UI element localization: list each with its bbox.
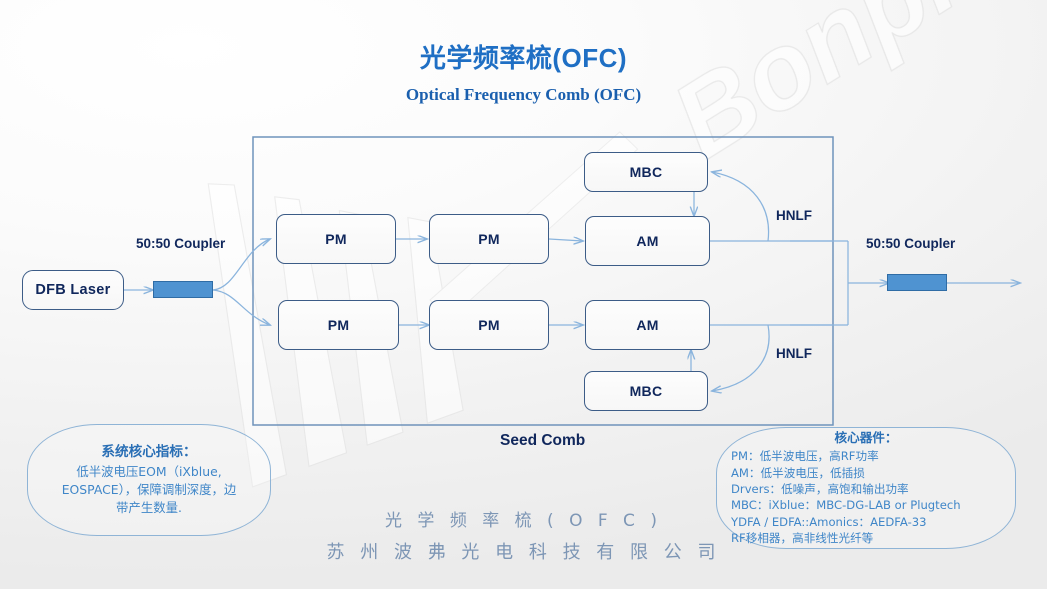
callout-right-line-3: Drvers：低噪声，高饱和输出功率 bbox=[731, 481, 1001, 497]
slide-canvas: Bonphot Bonphot 光学频率梳(OFC) Optical Frequ… bbox=[0, 0, 1047, 589]
upper-hnlf-label: HNLF bbox=[776, 208, 812, 223]
node-label: AM bbox=[636, 317, 658, 333]
seed-comb-label: Seed Comb bbox=[500, 432, 585, 450]
node-lower-am[interactable]: AM bbox=[585, 300, 710, 350]
node-label: PM bbox=[325, 231, 347, 247]
page-title-cn: 光学频率梳(OFC) bbox=[0, 38, 1047, 75]
node-label: PM bbox=[478, 231, 500, 247]
callout-right-line-2: AM：低半波电压，低插损 bbox=[731, 465, 1001, 481]
callout-left-line-2: EOSPACE），保障调制深度，边 bbox=[44, 481, 254, 499]
lower-hnlf-label: HNLF bbox=[776, 346, 812, 361]
callout-right-heading: 核心器件： bbox=[731, 429, 1001, 447]
node-dfb-laser[interactable]: DFB Laser bbox=[22, 270, 124, 310]
node-label: MBC bbox=[630, 383, 663, 399]
node-upper-am[interactable]: AM bbox=[585, 216, 710, 266]
input-coupler-bar[interactable] bbox=[153, 281, 213, 298]
callout-right-line-1: PM：低半波电压，高RF功率 bbox=[731, 448, 1001, 464]
node-upper-pm-1[interactable]: PM bbox=[276, 214, 396, 264]
node-label: AM bbox=[636, 233, 658, 249]
node-label: PM bbox=[478, 317, 500, 333]
node-label: PM bbox=[328, 317, 350, 333]
output-coupler-label: 50:50 Coupler bbox=[866, 236, 955, 251]
footer-company-name: 苏 州 波 弗 光 电 科 技 有 限 公 司 bbox=[0, 538, 1047, 564]
node-label: MBC bbox=[630, 164, 663, 180]
footer-product-name: 光 学 频 率 梳 ( O F C ) bbox=[0, 506, 1047, 531]
node-lower-pm-1[interactable]: PM bbox=[278, 300, 399, 350]
node-upper-mbc[interactable]: MBC bbox=[584, 152, 708, 192]
node-lower-mbc[interactable]: MBC bbox=[584, 371, 708, 411]
output-coupler-bar[interactable] bbox=[887, 274, 947, 291]
page-title-en: Optical Frequency Comb (OFC) bbox=[0, 85, 1047, 105]
node-lower-pm-2[interactable]: PM bbox=[429, 300, 549, 350]
seed-comb-container bbox=[253, 137, 833, 425]
input-coupler-label: 50:50 Coupler bbox=[136, 236, 225, 251]
callout-left-line-1: 低半波电压EOM（iXblue, bbox=[44, 463, 254, 481]
node-label: DFB Laser bbox=[35, 282, 110, 298]
callout-left-heading: 系统核心指标： bbox=[44, 443, 254, 463]
node-upper-pm-2[interactable]: PM bbox=[429, 214, 549, 264]
